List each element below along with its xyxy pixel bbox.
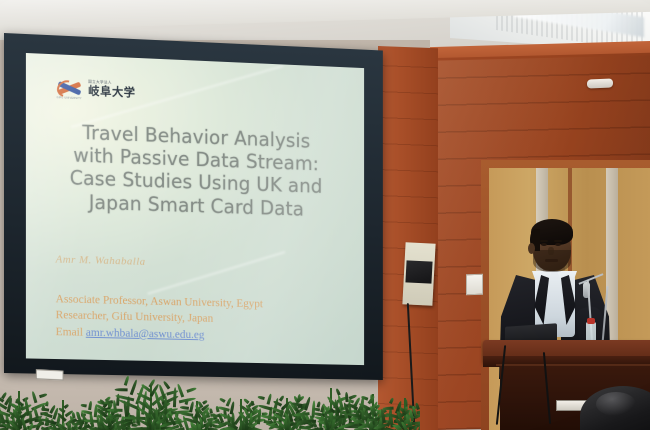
nose (548, 247, 554, 255)
slide-affiliations: Associate Professor, Aswan University, E… (56, 291, 263, 345)
photo-scene: GIFU UNIVERSITY 国立大学法人 岐阜大学 Travel Behav… (0, 0, 650, 430)
potted-plants (0, 358, 420, 430)
gifu-university-mark-icon: GIFU UNIVERSITY (56, 76, 84, 99)
slide-title: Travel Behavior Analysis with Passive Da… (26, 119, 364, 223)
slide-logo: GIFU UNIVERSITY 国立大学法人 岐阜大学 (56, 76, 136, 101)
projection-screen: GIFU UNIVERSITY 国立大学法人 岐阜大学 Travel Behav… (4, 33, 383, 380)
eyebrow-left (540, 240, 548, 242)
email-line: Email amr.whbala@aswu.edu.eg (56, 324, 263, 345)
email-link[interactable]: amr.whbala@aswu.edu.eg (86, 326, 205, 341)
eye-left (541, 243, 547, 246)
water-bottle-cap (587, 318, 595, 324)
eyebrow-right (554, 240, 562, 242)
control-panel-screen (405, 260, 432, 283)
eye-right (555, 243, 561, 246)
logo-mark-subtext: GIFU UNIVERSITY (57, 96, 82, 100)
logo-kanji-text: 岐阜大学 (88, 85, 135, 98)
email-label: Email (56, 325, 86, 339)
slide-author-name: Amr M. Wahaballa (56, 253, 146, 267)
smoke-detector-icon (587, 79, 613, 89)
light-switch[interactable] (466, 274, 483, 295)
slide-surface: GIFU UNIVERSITY 国立大学法人 岐阜大学 Travel Behav… (26, 53, 364, 365)
screen-glare-streak-2 (147, 251, 285, 294)
mouth (545, 259, 558, 262)
audience-head-highlight (596, 392, 636, 416)
plant-frond (62, 405, 66, 430)
ear (528, 243, 535, 254)
podium-edge (496, 364, 650, 371)
